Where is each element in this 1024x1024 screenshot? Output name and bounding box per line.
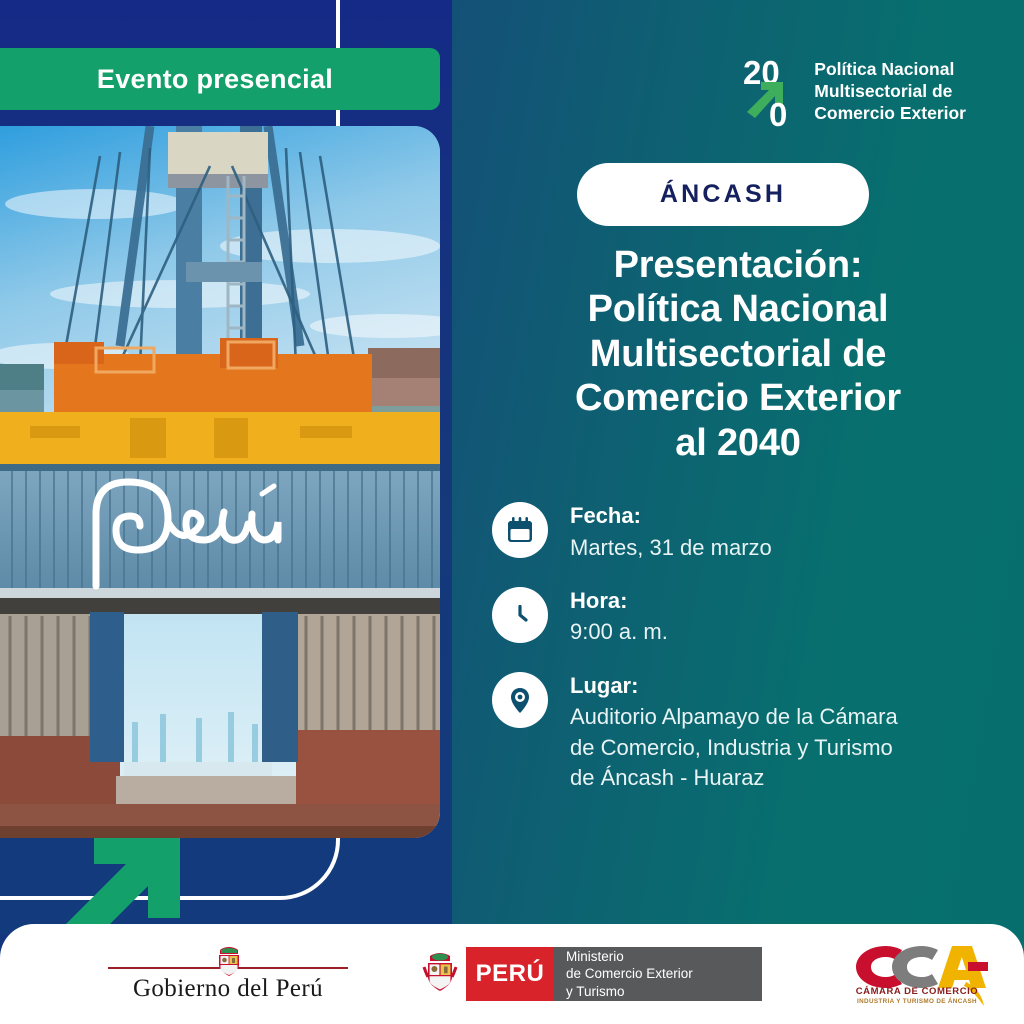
svg-text:0: 0	[769, 96, 787, 130]
port-crane-photo	[0, 126, 440, 838]
detail-row-fecha: Fecha: Martes, 31 de marzo	[492, 500, 1012, 563]
detail-row-hora: Hora: 9:00 a. m.	[492, 585, 1012, 648]
detail-value-fecha: Martes, 31 de marzo	[570, 533, 772, 563]
pnmce-line-2: Multisectorial de	[814, 80, 966, 102]
detail-text-lugar: Lugar: Auditorio Alpamayo de la Cámara d…	[570, 670, 898, 794]
detail-value-lugar-line-2: de Comercio, Industria y Turismo	[570, 733, 898, 763]
region-badge: ÁNCASH	[577, 163, 869, 226]
peru-coat-of-arms-icon	[414, 947, 466, 1001]
pnmce-logo: 20 0 Política Nacional Multisectorial de…	[743, 52, 966, 130]
evento-presencial-label: Evento presencial	[77, 64, 333, 95]
footer-logos: Gobierno del Perú	[0, 924, 1024, 1024]
location-pin-icon	[492, 672, 548, 728]
title-line-5: al 2040	[462, 421, 1014, 465]
detail-label-fecha: Fecha:	[570, 502, 772, 530]
camara-comercio-ancash-logo: CÁMARA DE COMERCIO INDUSTRIA Y TURISMO D…	[842, 936, 992, 1012]
mincetur-line-1: Ministerio	[566, 948, 748, 965]
detail-value-lugar-line-1: Auditorio Alpamayo de la Cámara	[570, 702, 898, 732]
title-line-3: Multisectorial de	[462, 332, 1014, 376]
calendar-icon	[492, 502, 548, 558]
mincetur-logo: PERÚ Ministerio de Comercio Exterior y T…	[414, 947, 762, 1001]
pnmce-line-1: Política Nacional	[814, 58, 966, 80]
detail-text-fecha: Fecha: Martes, 31 de marzo	[570, 500, 772, 563]
mincetur-line-2: de Comercio Exterior	[566, 965, 748, 982]
detail-value-hora: 9:00 a. m.	[570, 617, 668, 647]
pnmce-line-3: Comercio Exterior	[814, 102, 966, 124]
content-column: 20 0 Política Nacional Multisectorial de…	[452, 0, 1024, 935]
cca-line-1: CÁMARA DE COMERCIO	[842, 986, 992, 997]
mincetur-name-block: Ministerio de Comercio Exterior y Turism…	[554, 947, 762, 1001]
cca-line-2: INDUSTRIA Y TURISMO DE ÁNCASH	[842, 998, 992, 1005]
event-details: Fecha: Martes, 31 de marzo Hora: 9:00 a.…	[492, 500, 1012, 815]
detail-label-hora: Hora:	[570, 587, 668, 615]
page-title: Presentación: Política Nacional Multisec…	[462, 243, 1014, 465]
detail-row-lugar: Lugar: Auditorio Alpamayo de la Cámara d…	[492, 670, 1012, 794]
title-line-2: Política Nacional	[462, 287, 1014, 331]
detail-value-lugar-line-3: de Áncash - Huaraz	[570, 763, 898, 793]
pnmce-2040-mark: 20 0	[743, 52, 801, 130]
detail-label-lugar: Lugar:	[570, 672, 898, 700]
event-poster: Evento presencial 20 0 Política Nacional…	[0, 0, 1024, 1024]
peru-coat-of-arms-icon	[212, 945, 246, 984]
mincetur-peru-label: PERÚ	[466, 947, 554, 1001]
title-line-4: Comercio Exterior	[462, 376, 1014, 420]
evento-presencial-badge: Evento presencial	[0, 48, 440, 110]
pnmce-logo-text: Política Nacional Multisectorial de Come…	[814, 58, 966, 124]
green-arrow-decoration	[52, 830, 182, 935]
gobierno-del-peru-logo: Gobierno del Perú	[108, 945, 348, 1003]
region-badge-label: ÁNCASH	[660, 180, 786, 209]
clock-icon	[492, 587, 548, 643]
mincetur-line-3: y Turismo	[566, 983, 748, 1000]
detail-text-hora: Hora: 9:00 a. m.	[570, 585, 668, 648]
title-line-1: Presentación:	[462, 243, 1014, 287]
